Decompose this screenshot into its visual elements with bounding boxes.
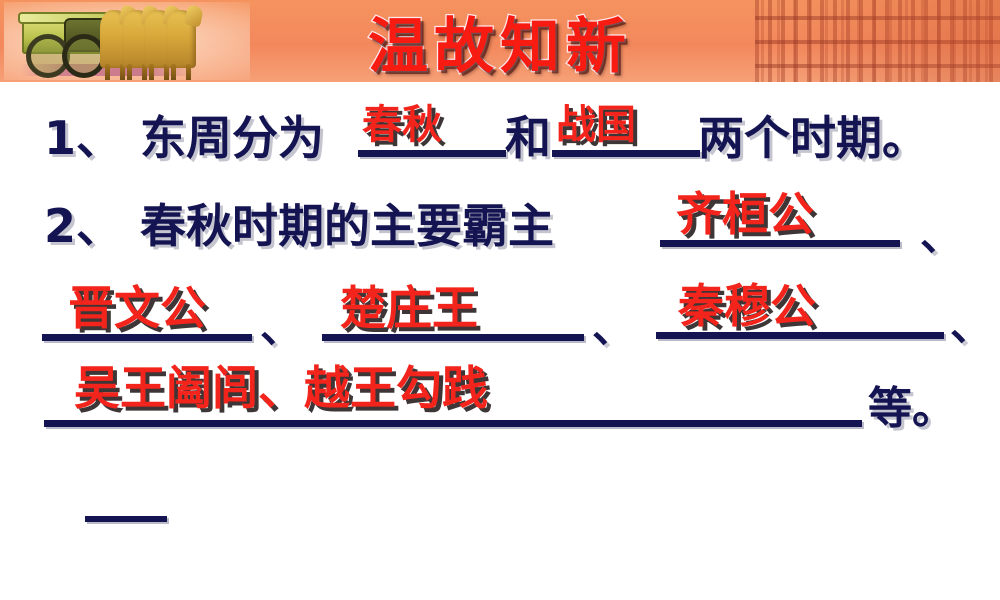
question-1-text-b: 和 bbox=[505, 102, 551, 168]
slide-header-banner: 温故知新 bbox=[0, 0, 1000, 82]
question-2-separator-1: 、 bbox=[920, 202, 962, 263]
question-1-answer-2: 战国 bbox=[556, 92, 636, 150]
question-1-blank-2 bbox=[552, 150, 700, 157]
slide-title: 温故知新 bbox=[0, 0, 1000, 82]
question-2-blank-3 bbox=[322, 334, 584, 341]
question-2-separator-4: 、 bbox=[950, 292, 992, 353]
question-2-answer-5: 吴王阖闾、越王勾践 bbox=[74, 352, 488, 418]
question-2-blank-4 bbox=[656, 332, 944, 339]
question-2-number: 2、 bbox=[44, 190, 122, 256]
question-2-answer-1: 齐桓公 bbox=[676, 178, 814, 244]
question-1-blank-1 bbox=[358, 150, 506, 157]
question-2-blank-5 bbox=[44, 420, 862, 427]
question-2-tail-text: 等。 bbox=[868, 372, 956, 436]
question-2-blank-2 bbox=[42, 334, 252, 341]
slide-content-area: 1、 东周分为 春秋 和 战国 两个时期。 2、 春秋时期的主要霸主 齐桓公 、… bbox=[0, 82, 1000, 600]
question-2-answer-4: 秦穆公 bbox=[678, 270, 816, 336]
question-1-answer-1: 春秋 bbox=[362, 92, 442, 150]
question-1-number: 1、 bbox=[44, 102, 122, 168]
question-2-separator-2: 、 bbox=[260, 294, 302, 355]
question-2-separator-3: 、 bbox=[592, 294, 634, 355]
stray-underline-stub bbox=[85, 516, 167, 522]
question-1-text-c: 两个时期。 bbox=[698, 102, 928, 168]
question-2-answer-3: 楚庄王 bbox=[340, 272, 478, 338]
question-1-text-a: 东周分为 bbox=[140, 102, 324, 168]
question-2-answer-2: 晋文公 bbox=[68, 272, 206, 338]
question-2-blank-1 bbox=[660, 240, 900, 247]
question-2-prompt: 春秋时期的主要霸主 bbox=[140, 190, 554, 256]
